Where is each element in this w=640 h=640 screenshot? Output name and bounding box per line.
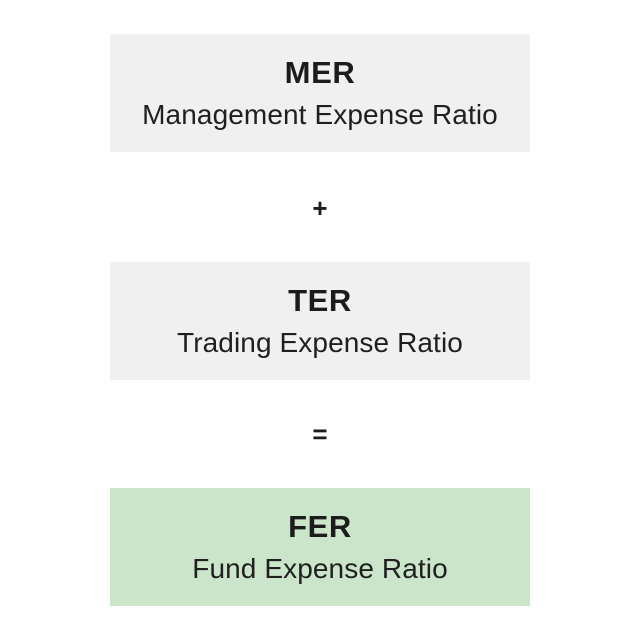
term-abbr-ter: TER [288, 285, 352, 316]
term-name-mer: Management Expense Ratio [142, 101, 498, 129]
plus-sign-icon: + [0, 195, 640, 221]
term-box-ter: TER Trading Expense Ratio [110, 262, 530, 380]
term-name-fer: Fund Expense Ratio [192, 555, 448, 583]
equals-sign-icon: = [0, 421, 640, 447]
expense-ratio-formula-diagram: MER Management Expense Ratio + TER Tradi… [0, 0, 640, 640]
term-name-ter: Trading Expense Ratio [177, 329, 463, 357]
term-box-mer: MER Management Expense Ratio [110, 34, 530, 152]
term-abbr-fer: FER [288, 511, 352, 542]
term-box-fer: FER Fund Expense Ratio [110, 488, 530, 606]
term-abbr-mer: MER [285, 57, 356, 88]
